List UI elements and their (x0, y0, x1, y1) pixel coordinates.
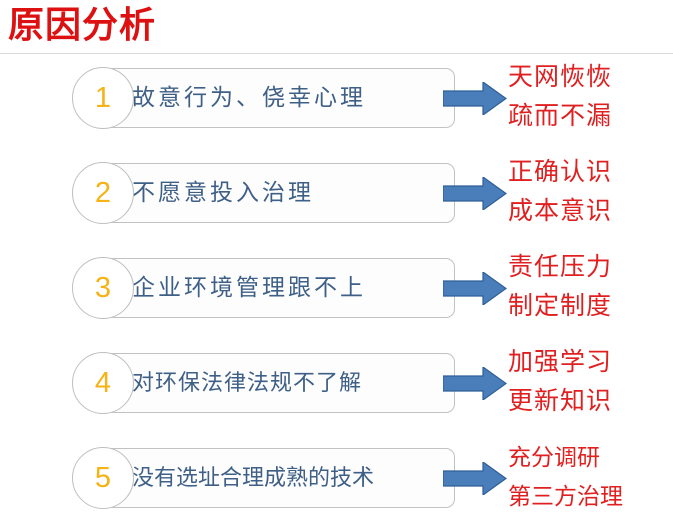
solution-line2-3: 制定制度 (508, 287, 673, 326)
solution-text-4: 加强学习 更新知识 (508, 343, 673, 421)
step-number-2: 2 (73, 163, 133, 223)
right-arrow-icon (443, 272, 507, 305)
cause-row-2: 2 不愿意投入治理 正确认识 成本意识 (0, 151, 673, 246)
step-number-circle-2: 2 (72, 162, 134, 224)
solution-line1-3: 责任压力 (508, 254, 612, 281)
solution-text-5: 充分调研 第三方治理 (508, 438, 673, 516)
solution-text-3: 责任压力 制定制度 (508, 248, 673, 326)
solution-line1-5: 充分调研 (508, 445, 600, 470)
solution-text-1: 天网恢恢 疏而不漏 (508, 58, 673, 136)
page-title: 原因分析 (8, 3, 156, 47)
step-number-circle-5: 5 (72, 447, 134, 509)
right-arrow-icon (443, 177, 507, 210)
cause-label-4: 对环保法律法规不了解 (132, 353, 450, 413)
cause-row-1: 1 故意行为、侥幸心理 天网恢恢 疏而不漏 (0, 56, 673, 151)
right-arrow-icon (443, 82, 507, 115)
cause-label-2: 不愿意投入治理 (132, 163, 450, 223)
cause-row-3: 3 企业环境管理跟不上 责任压力 制定制度 (0, 246, 673, 341)
slide-canvas: 原因分析 1 故意行为、侥幸心理 天网恢恢 疏而不漏 2 不愿意投入治理 (0, 0, 673, 515)
step-number-circle-3: 3 (72, 257, 134, 319)
step-number-circle-4: 4 (72, 352, 134, 414)
step-number-1: 1 (73, 68, 133, 128)
solution-line2-4: 更新知识 (508, 382, 673, 421)
cause-label-1: 故意行为、侥幸心理 (132, 68, 450, 128)
step-number-circle-1: 1 (72, 67, 134, 129)
solution-line1-1: 天网恢恢 (508, 64, 612, 91)
right-arrow-icon (443, 462, 507, 495)
cause-row-5: 5 没有选址合理成熟的技术 充分调研 第三方治理 (0, 436, 673, 531)
cause-row-4: 4 对环保法律法规不了解 加强学习 更新知识 (0, 341, 673, 436)
step-number-4: 4 (73, 353, 133, 413)
solution-line2-5: 第三方治理 (508, 477, 673, 516)
solution-line1-4: 加强学习 (508, 349, 612, 376)
solution-line2-1: 疏而不漏 (508, 97, 673, 136)
right-arrow-icon (443, 367, 507, 400)
cause-label-5: 没有选址合理成熟的技术 (132, 448, 450, 508)
title-block: 原因分析 (8, 3, 668, 55)
solution-text-2: 正确认识 成本意识 (508, 153, 673, 231)
step-number-3: 3 (73, 258, 133, 318)
title-divider (0, 53, 673, 54)
cause-label-3: 企业环境管理跟不上 (132, 258, 450, 318)
solution-line2-2: 成本意识 (508, 192, 673, 231)
step-number-5: 5 (73, 448, 133, 508)
solution-line1-2: 正确认识 (508, 159, 612, 186)
